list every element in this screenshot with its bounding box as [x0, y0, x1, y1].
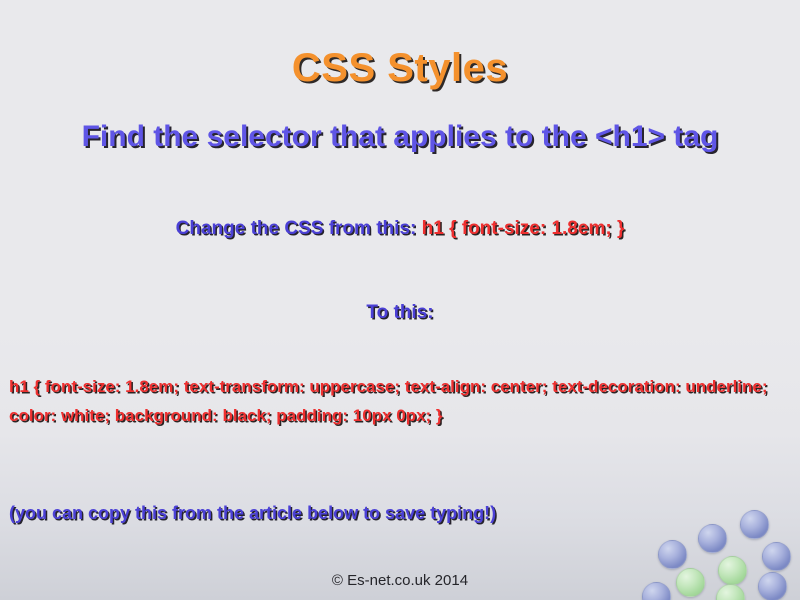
- decorative-sphere-blue: [762, 542, 791, 571]
- change-css-line: Change the CSS from this: h1 { font-size…: [0, 218, 800, 240]
- decorative-sphere-blue: [658, 540, 687, 569]
- page-title: CSS Styles: [0, 46, 800, 91]
- to-this-label: To this:: [0, 302, 800, 324]
- decorative-sphere-blue: [698, 524, 727, 553]
- new-css-code-block: h1 { font-size: 1.8em; text-transform: u…: [9, 372, 793, 430]
- original-css-code: h1 { font-size: 1.8em; }: [422, 218, 625, 239]
- presentation-slide: CSS Styles Find the selector that applie…: [0, 0, 800, 600]
- slide-subtitle: Find the selector that applies to the <h…: [0, 120, 800, 154]
- change-css-label: Change the CSS from this:: [176, 218, 422, 239]
- copy-hint-note: (you can copy this from the article belo…: [9, 503, 793, 524]
- copyright-footer: © Es-net.co.uk 2014: [0, 572, 800, 589]
